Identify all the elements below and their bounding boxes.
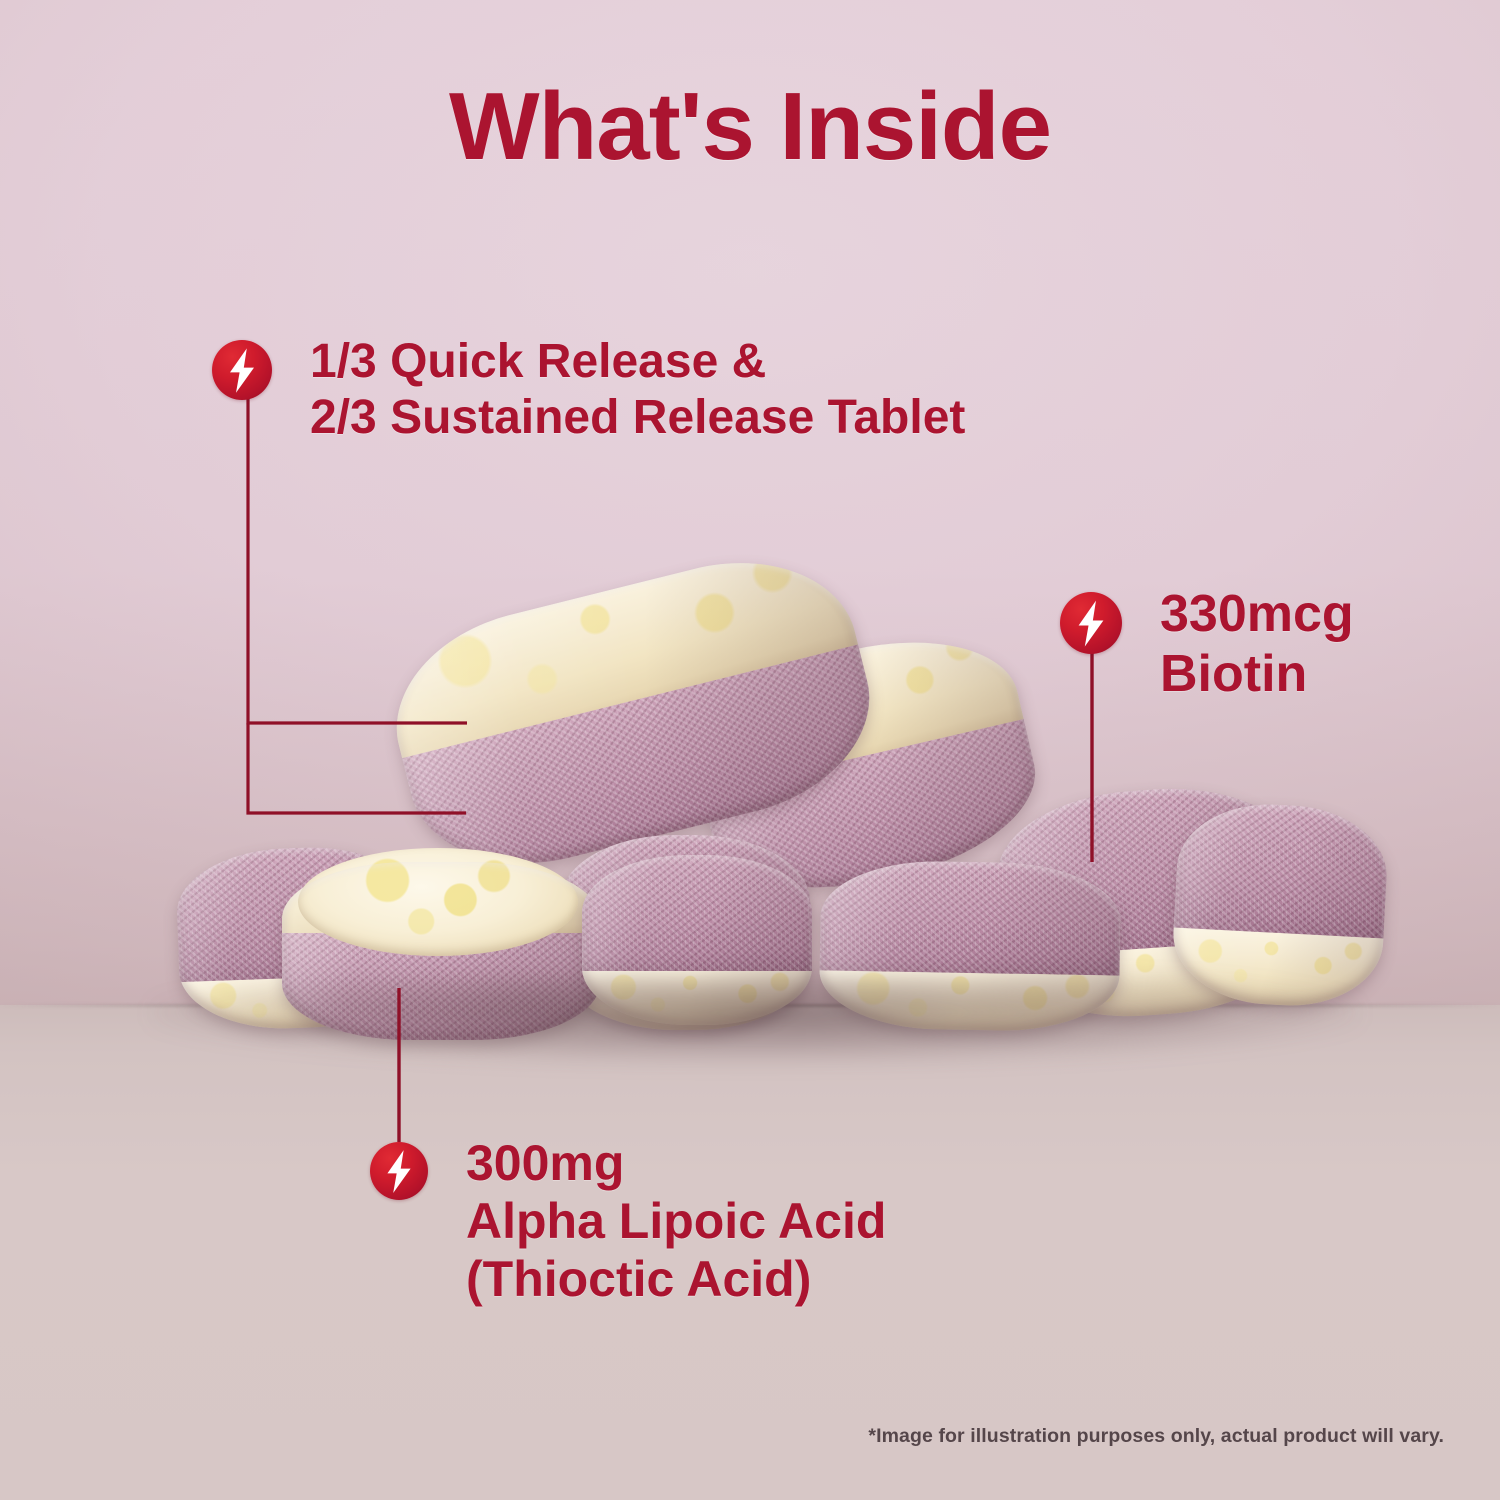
- callout-label-biotin: 330mcg Biotin: [1160, 584, 1500, 705]
- page-title: What's Inside: [0, 72, 1500, 182]
- lightning-bolt-icon: [370, 1142, 428, 1200]
- lightning-bolt-icon: [212, 340, 272, 400]
- callout-label-alpha-lipoic: 300mg Alpha Lipoic Acid (Thioctic Acid): [466, 1134, 1166, 1308]
- pile-cast-shadow: [150, 975, 1360, 1065]
- callout-label-release: 1/3 Quick Release & 2/3 Sustained Releas…: [310, 334, 1270, 445]
- lightning-bolt-icon: [1060, 592, 1122, 654]
- illustration-disclaimer: *Image for illustration purposes only, a…: [868, 1425, 1444, 1448]
